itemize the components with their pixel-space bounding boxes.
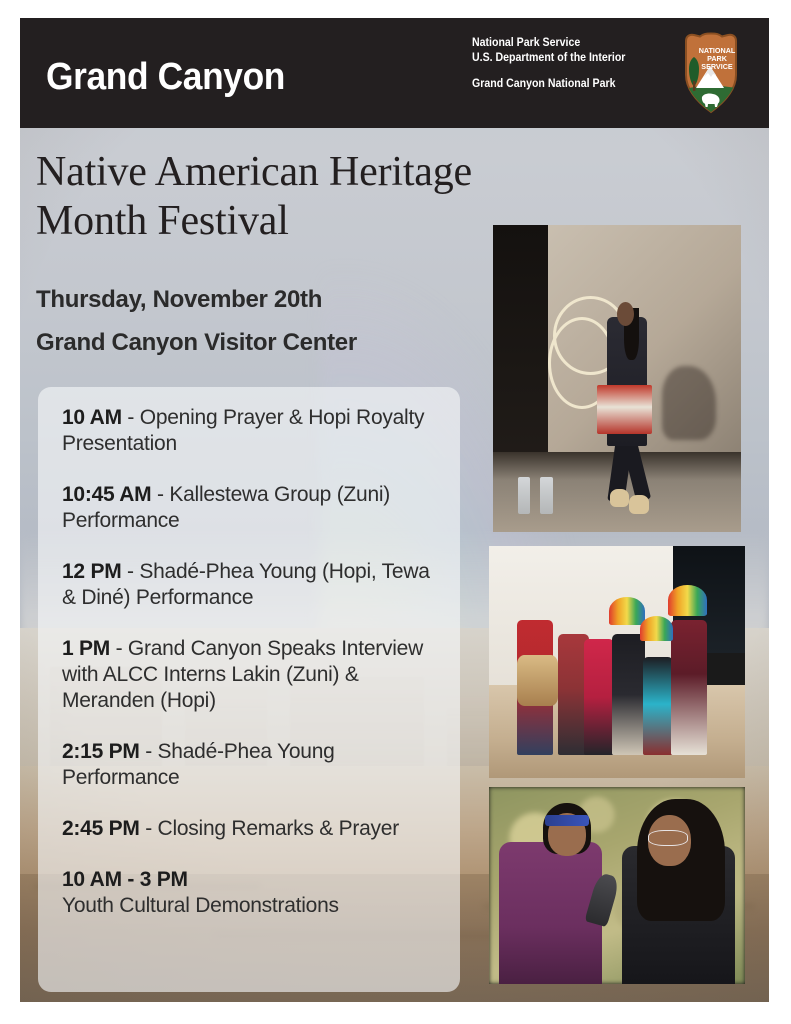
agency-identity-block: National Park Service U.S. Department of… <box>472 36 625 92</box>
photo-water-bottle <box>518 477 530 514</box>
schedule-item: 10:45 AM - Kallestewa Group (Zuni) Perfo… <box>62 482 440 534</box>
photo-group-member <box>671 620 707 755</box>
photo-eyeglasses <box>648 830 688 846</box>
schedule-item: 1 PM - Grand Canyon Speaks Interview wit… <box>62 636 440 714</box>
photo-group-member <box>612 634 645 755</box>
schedule-item-time: 1 PM <box>62 637 110 660</box>
schedule-item: 10 AM - Opening Prayer & Hopi Royalty Pr… <box>62 405 440 457</box>
schedule-item: 2:15 PM - Shadé-Phea Young Performance <box>62 739 440 791</box>
arrowhead-text-service: SERVICE <box>701 62 733 71</box>
event-location: Grand Canyon Visitor Center <box>36 329 357 357</box>
schedule-item-description: Youth Cultural Demonstrations <box>62 893 440 919</box>
poster-header-band: Grand Canyon National Park Service U.S. … <box>20 18 769 128</box>
photo-dancer-regalia <box>597 385 652 434</box>
photo-hand-drum <box>517 655 558 706</box>
group-regalia-photo <box>489 546 745 778</box>
photo-water-bottle <box>540 477 552 514</box>
schedule-item-time: 2:15 PM <box>62 740 140 763</box>
hoop-dancer-photo <box>493 225 741 532</box>
schedule-item-time: 10:45 AM <box>62 483 151 506</box>
event-title: Native American Heritage Month Festival <box>36 148 556 246</box>
schedule-item: 10 AM - 3 PMYouth Cultural Demonstration… <box>62 867 440 919</box>
schedule-list: 10 AM - Opening Prayer & Hopi Royalty Pr… <box>62 405 440 919</box>
photo-beaded-headband <box>545 815 589 827</box>
photo-moccasin <box>610 489 630 507</box>
photo-dancer-shadow <box>662 366 717 440</box>
schedule-item-description: - Closing Remarks & Prayer <box>140 817 399 840</box>
schedule-item: 12 PM - Shadé-Phea Young (Hopi, Tewa & D… <box>62 559 440 611</box>
schedule-item-time: 10 AM - 3 PM <box>62 867 440 893</box>
poster-canvas: Grand Canyon National Park Service U.S. … <box>20 18 769 1002</box>
interview-photo <box>489 787 745 984</box>
photo-moccasin <box>629 495 649 513</box>
schedule-item-time: 2:45 PM <box>62 817 140 840</box>
park-name-title: Grand Canyon <box>46 56 285 99</box>
photo-rainbow-headdress <box>640 616 673 642</box>
schedule-item: 2:45 PM - Closing Remarks & Prayer <box>62 816 440 842</box>
schedule-panel: 10 AM - Opening Prayer & Hopi Royalty Pr… <box>38 387 460 992</box>
agency-spacer <box>472 66 625 77</box>
photo-rainbow-headdress <box>668 585 706 615</box>
agency-line-department-interior: U.S. Department of the Interior <box>472 51 625 66</box>
photo-group-member <box>584 639 615 755</box>
event-date: Thursday, November 20th <box>36 286 322 314</box>
nps-arrowhead-icon: NATIONAL PARK SERVICE <box>680 31 742 115</box>
agency-line-park-unit: Grand Canyon National Park <box>472 77 625 92</box>
schedule-item-time: 12 PM <box>62 560 121 583</box>
schedule-item-time: 10 AM <box>62 406 122 429</box>
agency-line-national-park-service: National Park Service <box>472 36 625 51</box>
schedule-item-description: - Grand Canyon Speaks Interview with ALC… <box>62 637 423 712</box>
photo-rainbow-headdress <box>609 597 645 625</box>
photo-group-member <box>643 657 674 754</box>
